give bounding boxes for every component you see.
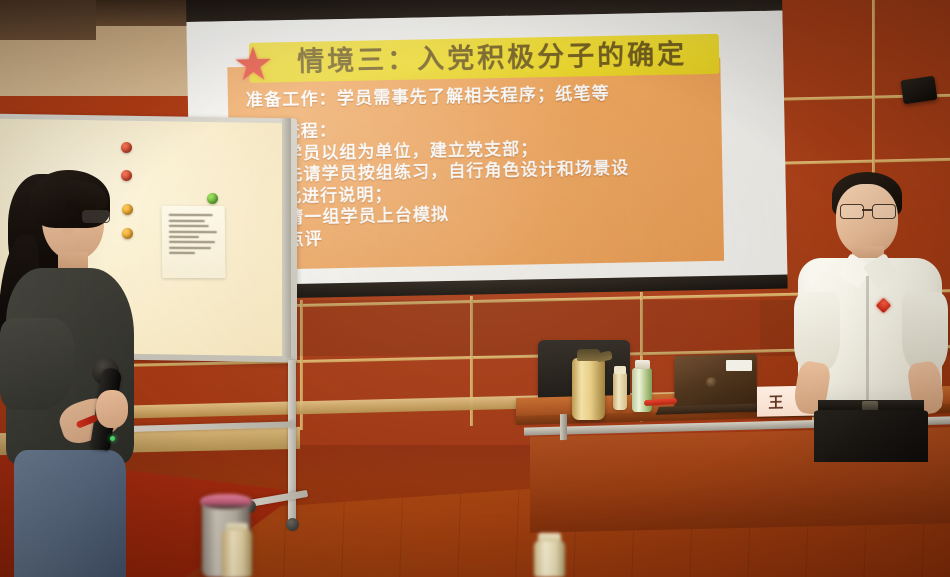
man-instructor: [790, 172, 950, 422]
wall-left-shadow: [0, 0, 96, 40]
glasses-lens-left: [840, 204, 864, 219]
slide-body: 模拟流程： 1、 学员以组为单位，建立党支部； 2、 先请学员按组练习，自行角色…: [246, 114, 728, 252]
glasses-icon: [840, 204, 894, 217]
trousers: [814, 410, 928, 462]
hand: [96, 390, 128, 428]
water-bottle-cap: [635, 360, 650, 369]
glasses-lens-right: [872, 204, 896, 219]
shirt-sleeve-right: [902, 292, 948, 372]
whiteboard-right-edge: [282, 118, 291, 358]
foreground-bottle-right: [534, 541, 565, 577]
small-bottle-cap: [614, 366, 626, 374]
magnet-red-1: [121, 142, 132, 153]
microphone-led-icon: [110, 436, 115, 441]
shirt-placket: [866, 276, 869, 408]
glasses-bridge: [862, 209, 872, 211]
small-bottle: [613, 372, 627, 410]
whiteboard-leg-right: [288, 360, 296, 530]
shirt-sleeve-left: [794, 292, 840, 372]
jeans: [14, 450, 126, 577]
tshirt-sleeve: [0, 318, 74, 410]
thermos-flask: [572, 358, 605, 420]
woman-presenter: [0, 168, 150, 577]
laptop-label: [726, 360, 752, 371]
magnet-green-1: [207, 193, 218, 204]
foreground-cup-rim: [200, 494, 252, 509]
laptop-logo-icon: [706, 377, 717, 388]
whiteboard-caster-right: [286, 518, 299, 531]
wall-speaker-icon: [900, 76, 937, 104]
foreground-bottle-left: [222, 530, 252, 577]
red-star-icon: ★: [231, 43, 276, 86]
classroom-photo: ★ 情境三：入党积极分子的确定 准备工作：学员需事先了解相关程序；纸笔等 模拟流…: [0, 0, 950, 577]
handwritten-note: [162, 206, 226, 278]
glasses-icon: [82, 210, 110, 223]
desk-leg: [560, 414, 567, 440]
